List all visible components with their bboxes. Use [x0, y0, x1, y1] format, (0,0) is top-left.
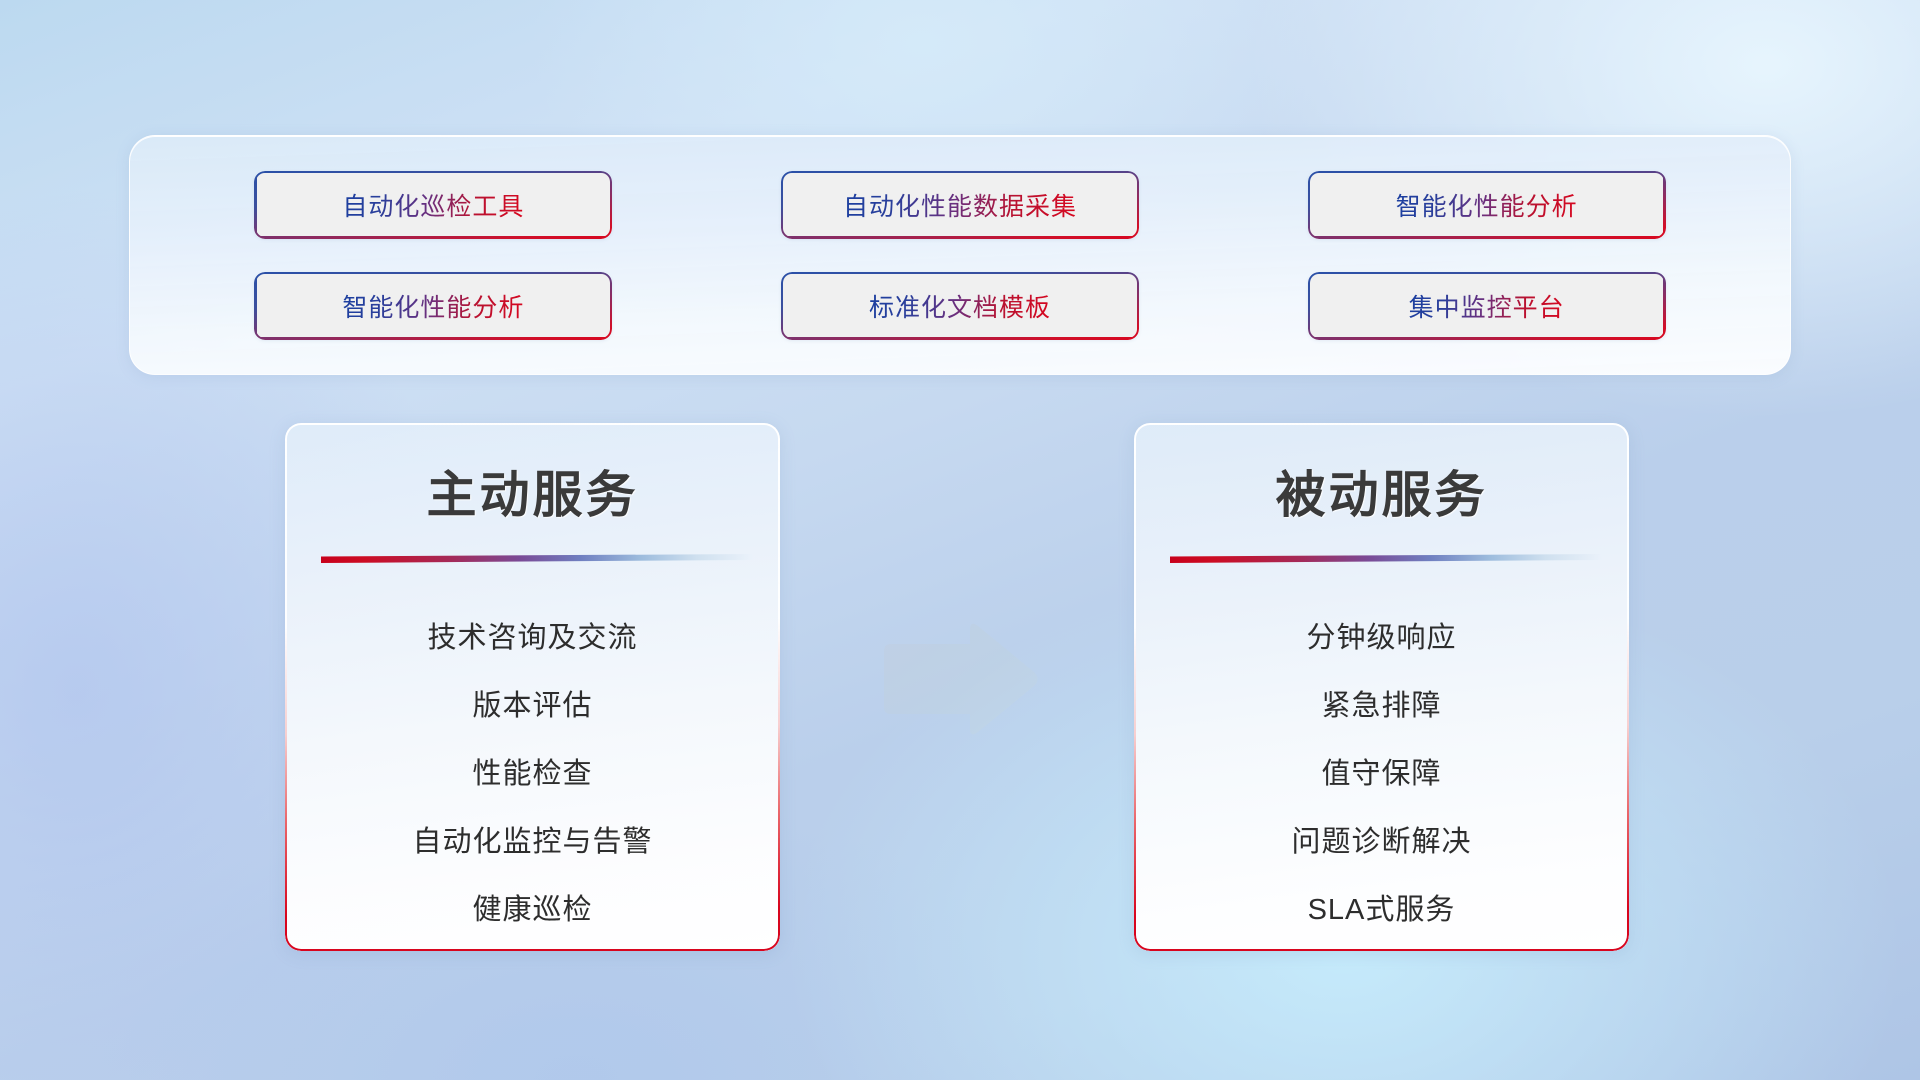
service-item: SLA式服务 [1308, 889, 1456, 931]
capability-pill[interactable]: 集中监控平台 [1308, 272, 1666, 340]
service-item: 技术咨询及交流 [427, 617, 637, 659]
capability-pill[interactable]: 标准化文档模板 [781, 272, 1139, 340]
slide-canvas: 自动化巡检工具 自动化性能数据采集 智能化性能分析 智能化性能分析 标准化文档模… [0, 0, 1920, 1080]
service-card-passive[interactable]: 被动服务 分钟级响应 紧急排障 值守保障 问题诊断解决 SLA式服务 [1134, 423, 1629, 951]
capability-pill-label: 集中监控平台 [1409, 288, 1565, 324]
arrow-right-icon [878, 620, 1040, 738]
service-item: 分钟级响应 [1306, 617, 1456, 659]
capability-pill-label: 智能化性能分析 [1396, 187, 1578, 223]
capability-pill[interactable]: 智能化性能分析 [254, 272, 612, 340]
capability-pill-label: 自动化性能数据采集 [843, 187, 1077, 223]
service-item-list: 分钟级响应 紧急排障 值守保障 问题诊断解决 SLA式服务 [1134, 599, 1629, 927]
service-card-active[interactable]: 主动服务 技术咨询及交流 版本评估 性能检查 自动化监控与告警 健康巡检 [285, 423, 780, 951]
capability-pill-label: 自动化巡检工具 [342, 187, 524, 223]
capability-pill-grid: 自动化巡检工具 自动化性能数据采集 智能化性能分析 智能化性能分析 标准化文档模… [130, 136, 1790, 374]
service-item: 紧急排障 [1321, 685, 1441, 727]
service-item-list: 技术咨询及交流 版本评估 性能检查 自动化监控与告警 健康巡检 [285, 599, 780, 927]
service-card-title: 被动服务 [1134, 455, 1629, 527]
capability-pill-label: 智能化性能分析 [342, 288, 524, 324]
service-card-title: 主动服务 [285, 455, 780, 527]
title-divider [321, 554, 753, 563]
title-divider [1170, 554, 1602, 563]
service-item: 问题诊断解决 [1291, 821, 1471, 863]
capability-pill[interactable]: 自动化性能数据采集 [781, 171, 1139, 239]
service-item: 值守保障 [1321, 753, 1441, 795]
service-item: 自动化监控与告警 [412, 821, 652, 863]
capability-pill[interactable]: 智能化性能分析 [1308, 171, 1666, 239]
capability-pill-label: 标准化文档模板 [869, 288, 1051, 324]
service-item: 性能检查 [472, 753, 592, 795]
service-item: 版本评估 [472, 685, 592, 727]
capability-pill[interactable]: 自动化巡检工具 [254, 171, 612, 239]
service-item: 健康巡检 [472, 889, 592, 931]
capability-panel: 自动化巡检工具 自动化性能数据采集 智能化性能分析 智能化性能分析 标准化文档模… [129, 135, 1791, 375]
